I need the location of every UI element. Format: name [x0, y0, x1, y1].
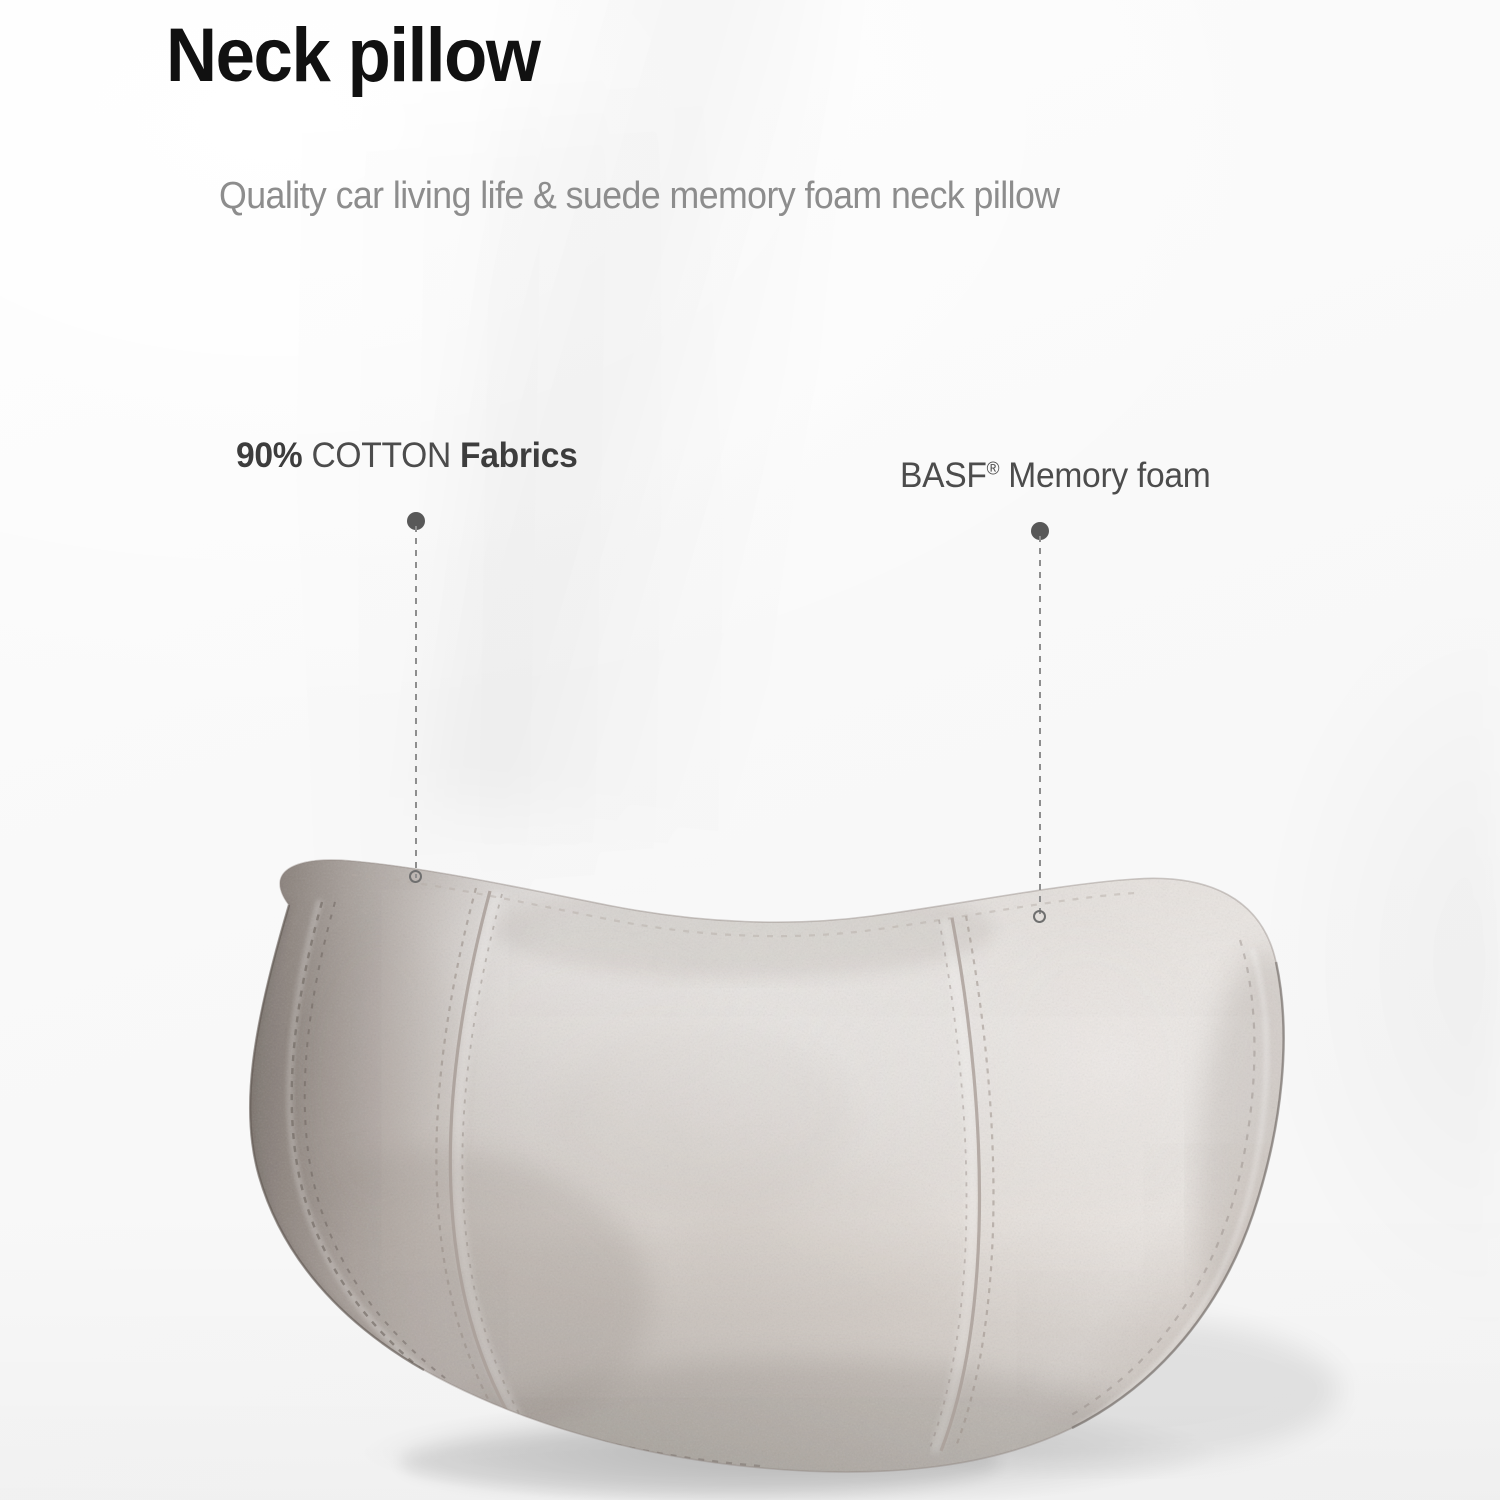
callout-cotton-prefix: 90%: [236, 436, 302, 475]
product-image-neck-pillow: [0, 0, 1500, 1500]
product-infographic: Neck pillow Quality car living life & su…: [0, 0, 1500, 1500]
callout-cotton-middle: [302, 436, 311, 475]
callout-label-basf: BASF® Memory foam: [900, 456, 1210, 496]
callout-cotton-caps: COTTON: [311, 436, 451, 475]
leader-line: [1039, 536, 1041, 918]
marker-ring-icon: [409, 870, 422, 883]
callout-basf-suffix: Memory foam: [1008, 456, 1210, 495]
callout-label-cotton: 90% COTTON Fabrics: [236, 436, 578, 476]
page-subtitle: Quality car living life & suede memory f…: [219, 175, 1060, 218]
callout-basf-space: [999, 456, 1008, 495]
callout-cotton-space: [451, 436, 460, 475]
marker-ring-icon: [1033, 910, 1046, 923]
callout-basf-prefix: BASF: [900, 456, 987, 495]
leader-line: [415, 526, 417, 878]
page-title: Neck pillow: [166, 16, 540, 96]
callout-basf-trademark: ®: [987, 458, 1000, 478]
callout-cotton-suffix: Fabrics: [460, 436, 578, 475]
